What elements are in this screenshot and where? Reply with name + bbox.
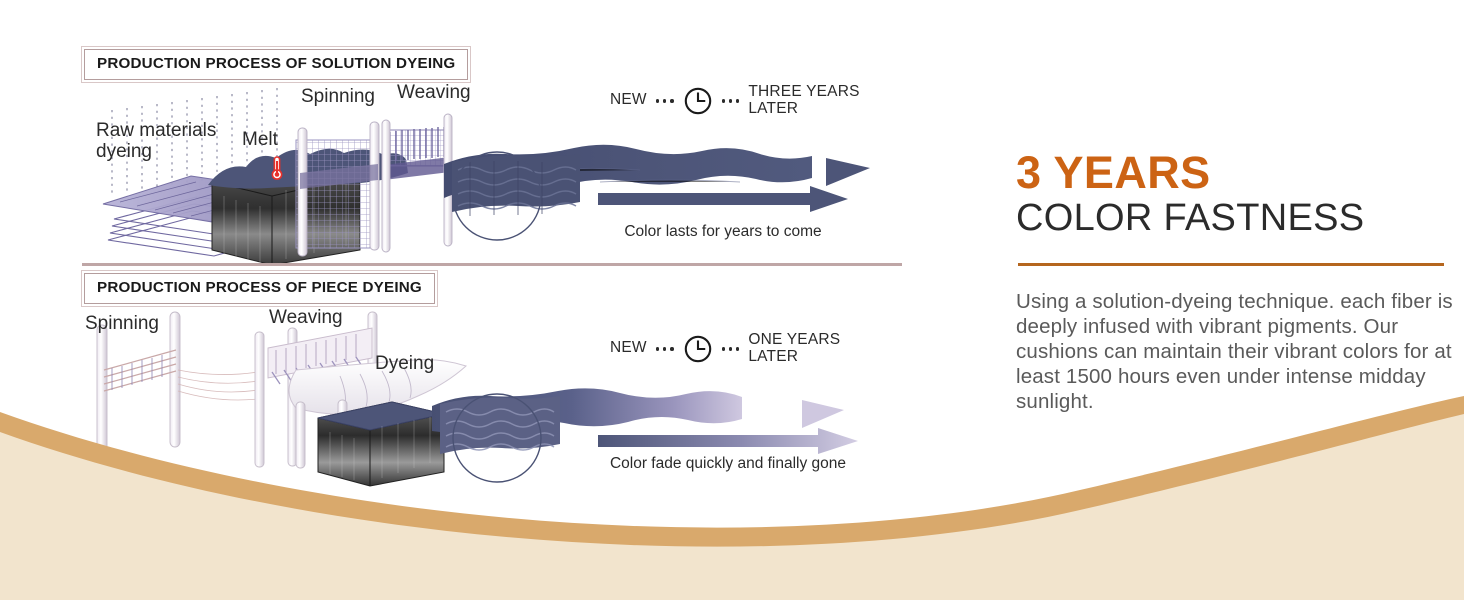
timeline-start-label: NEW: [610, 92, 647, 109]
clock-icon: [683, 334, 713, 364]
thermometer-icon: [272, 157, 281, 179]
panel-title-text: PRODUCTION PROCESS OF SOLUTION DYEING: [97, 55, 455, 72]
dots-icon: [656, 99, 674, 103]
heading-rule: [1018, 263, 1444, 266]
marketing-text-panel: 3 YEARS COLOR FASTNESS Using a solution-…: [1016, 0, 1464, 600]
weave-texture-detail: [440, 396, 560, 454]
caption-colorfade: Color fade quickly and finally gone: [588, 455, 868, 473]
timeline-start-label: NEW: [610, 340, 647, 357]
body-paragraph: Using a solution-dyeing technique. each …: [1016, 289, 1458, 414]
arrow-colorfast: [598, 186, 848, 217]
clock-icon: [683, 86, 713, 116]
panel-title-text: PRODUCTION PROCESS OF PIECE DYEING: [97, 279, 422, 296]
label-spinning: Spinning: [301, 86, 375, 107]
dots-icon: [722, 99, 740, 103]
label-raw-materials-dyeing: Raw materials dyeing: [96, 120, 216, 163]
infographic-root: PRODUCTION PROCESS OF SOLUTION DYEING PR…: [0, 0, 1464, 600]
headline-years: 3 YEARS: [1016, 150, 1211, 195]
spinning-machine: [296, 122, 379, 256]
dye-vat: [318, 402, 444, 486]
label-melt: Melt: [242, 129, 278, 150]
label-spinning: Spinning: [85, 313, 159, 334]
dots-icon: [722, 347, 740, 351]
weaving-machine: [382, 114, 452, 252]
caption-colorfast: Color lasts for years to come: [598, 223, 848, 241]
label-weaving: Weaving: [269, 307, 343, 328]
process-illustration-panel: PRODUCTION PROCESS OF SOLUTION DYEING PR…: [0, 0, 960, 520]
label-dyeing: Dyeing: [375, 353, 434, 374]
timeline-piece: NEW ONE YEARS LATER: [610, 332, 840, 365]
panel-divider: [82, 263, 902, 266]
timeline-end-label: THREE YEARS LATER: [748, 84, 859, 117]
dots-icon: [656, 347, 674, 351]
label-weaving: Weaving: [397, 82, 471, 103]
panel-title-solution-dyeing: PRODUCTION PROCESS OF SOLUTION DYEING: [84, 49, 468, 80]
timeline-end-label: ONE YEARS LATER: [748, 332, 840, 365]
yarn-threads: [178, 370, 258, 400]
panel-title-piece-dyeing: PRODUCTION PROCESS OF PIECE DYEING: [84, 273, 435, 304]
headline-color-fastness: COLOR FASTNESS: [1016, 199, 1364, 237]
timeline-solution: NEW THREE YEARS LATER: [610, 84, 860, 117]
